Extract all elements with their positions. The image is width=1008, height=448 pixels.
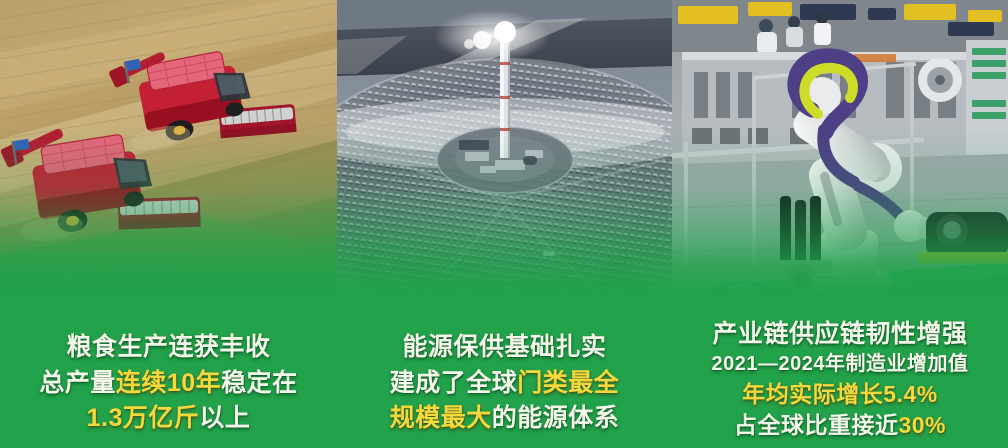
highlight-text: 30%	[898, 412, 946, 438]
caption-line: 占全球比重接近30%	[678, 412, 1002, 438]
panel-industrial-chain: 产业链供应链韧性增强2021—2024年制造业增加值年均实际增长5.4%占全球比…	[672, 0, 1008, 448]
panel-energy-supply: 能源保供基础扎实建成了全球门类最全规模最大的能源体系	[337, 0, 672, 448]
caption-line: 粮食生产连获丰收	[6, 333, 331, 361]
highlight-text: 1.3万亿斤	[87, 404, 200, 432]
caption-line: 规模最大的能源体系	[343, 404, 666, 432]
infographic-banner: 粮食生产连获丰收总产量连续10年稳定在1.3万亿斤以上	[0, 0, 1008, 448]
caption-text: 建成了全球	[390, 369, 518, 397]
caption-energy-supply: 能源保供基础扎实建成了全球门类最全规模最大的能源体系	[337, 326, 672, 448]
highlight-text: 规模最大	[390, 404, 492, 432]
caption-line: 1.3万亿斤以上	[6, 404, 331, 432]
highlight-text: 年均实际增长5.4%	[742, 381, 937, 407]
highlight-text: 连续10年	[116, 369, 221, 397]
caption-text: 粮食生产连获丰收	[66, 333, 270, 361]
caption-text: 总产量	[39, 369, 116, 397]
caption-text: 占全球比重接近	[734, 412, 899, 438]
photo-concentrated-solar-power-tower-with-heliostat-mirror-field	[337, 0, 672, 340]
caption-line: 年均实际增长5.4%	[678, 381, 1002, 407]
caption-grain-production: 粮食生产连获丰收总产量连续10年稳定在1.3万亿斤以上	[0, 326, 337, 448]
caption-text: 能源保供基础扎实	[402, 333, 606, 361]
caption-line: 能源保供基础扎实	[343, 333, 666, 361]
photo-factory-assembly-line-industrial-robot-arm	[672, 0, 1008, 340]
caption-text: 2021—2024年制造业增加值	[712, 353, 969, 375]
caption-text: 稳定在	[221, 369, 298, 397]
caption-industrial-chain: 产业链供应链韧性增强2021—2024年制造业增加值年均实际增长5.4%占全球比…	[672, 315, 1008, 448]
caption-text: 以上	[199, 404, 250, 432]
panel-grain-production: 粮食生产连获丰收总产量连续10年稳定在1.3万亿斤以上	[0, 0, 337, 448]
caption-line: 建成了全球门类最全	[343, 369, 666, 397]
photo-aerial-combine-harvesters-in-wheat-field	[0, 0, 337, 340]
caption-text: 的能源体系	[492, 404, 620, 432]
caption-line: 产业链供应链韧性增强	[678, 320, 1002, 348]
caption-line: 总产量连续10年稳定在	[6, 369, 331, 397]
highlight-text: 门类最全	[517, 369, 619, 397]
caption-line: 2021—2024年制造业增加值	[678, 353, 1002, 376]
caption-text: 产业链供应链韧性增强	[712, 320, 967, 348]
